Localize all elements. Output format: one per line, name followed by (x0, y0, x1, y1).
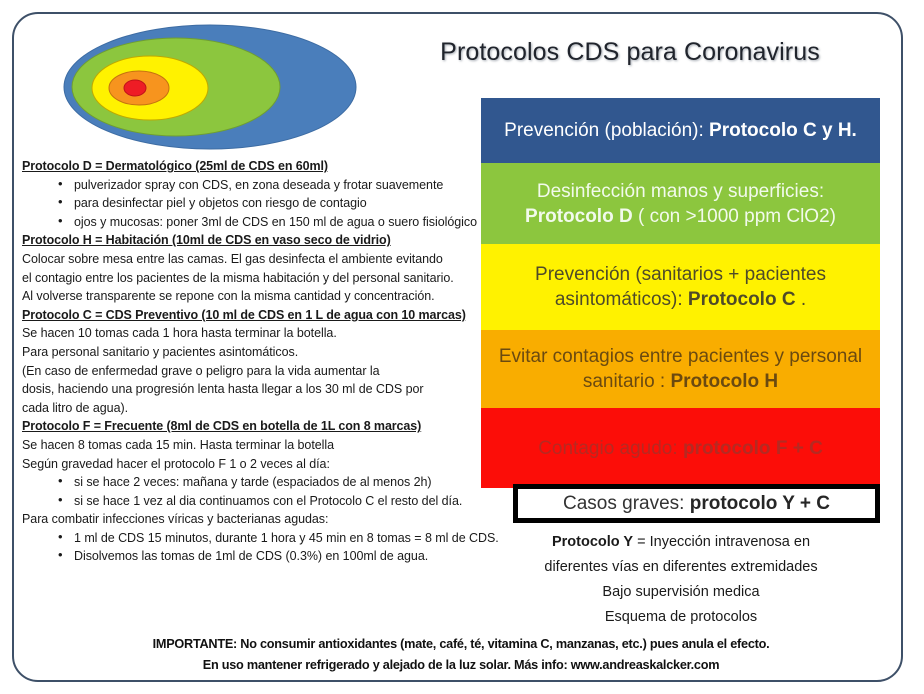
protocolo-y-line4: Esquema de protocolos (481, 605, 881, 630)
list-item: ojos y mucosas: poner 3ml de CDS en 150 … (74, 213, 480, 232)
protocolo-c-line: cada litro de agua). (22, 399, 480, 418)
band-text-bold: Protocolo D (525, 206, 633, 227)
band-text: Desinfección manos y superficies: Protoc… (493, 179, 868, 229)
list-item: 1 ml de CDS 15 minutos, durante 1 hora y… (74, 529, 480, 548)
protocolo-f-line: Según gravedad hacer el protocolo F 1 o … (22, 455, 480, 474)
list-item: para desinfectar piel y objetos con ries… (74, 194, 480, 213)
severity-bands-column: Prevención (población): Protocolo C y H.… (481, 98, 880, 488)
list-item: si se hace 2 veces: mañana y tarde (espa… (74, 473, 480, 492)
poster-root: Protocolos CDS para Coronavirus Protocol… (0, 0, 924, 694)
ellipse-red-core (124, 80, 146, 96)
band-evitar-contagios: Evitar contagios entre pacientes y perso… (481, 330, 880, 408)
protocolo-c-line: (En caso de enfermedad grave o peligro p… (22, 362, 480, 381)
casos-graves-callout: Casos graves: protocolo Y + C (513, 484, 880, 523)
list-item: si se hace 1 vez al dia continuamos con … (74, 492, 480, 511)
band-text: Prevención (sanitarios + pacientes asint… (493, 262, 868, 312)
band-text-tail: . (796, 289, 807, 310)
band-text-bold: Protocolo C y H. (709, 120, 857, 141)
protocolo-f-heading: Protocolo F = Frecuente (8ml de CDS en b… (22, 417, 480, 436)
protocolo-h-heading: Protocolo H = Habitación (10ml de CDS en… (22, 231, 480, 250)
band-text-bold: Protocolo H (670, 371, 778, 392)
protocolo-y-line3: Bajo supervisión medica (481, 580, 881, 605)
protocolo-y-line1: Protocolo Y = Inyección intravenosa en (481, 530, 881, 555)
band-desinfeccion: Desinfección manos y superficies: Protoc… (481, 163, 880, 244)
footer-line-2: En uso mantener refrigerado y alejado de… (30, 655, 892, 676)
protocolo-h-line: el contagio entre los pacientes de la mi… (22, 269, 480, 288)
protocolo-h-line: Al volverse transparente se repone con l… (22, 287, 480, 306)
band-text-bold: protocolo F + C (683, 438, 823, 459)
protocolo-c-line: Se hacen 10 tomas cada 1 hora hasta term… (22, 324, 480, 343)
band-contagio-agudo: Contagio agudo: protocolo F + C (481, 408, 880, 488)
protocolo-y-label: Protocolo Y (552, 534, 633, 550)
protocolo-f-bullets-2: 1 ml de CDS 15 minutos, durante 1 hora y… (22, 529, 480, 566)
band-text-plain: Prevención (población): (504, 120, 709, 141)
protocolo-y-line1-plain: = Inyección intravenosa en (633, 534, 810, 550)
casos-graves-bold: protocolo Y + C (690, 493, 830, 514)
band-text: Prevención (población): Protocolo C y H. (504, 118, 857, 143)
casos-graves-plain: Casos graves: (563, 493, 690, 514)
protocolo-c-heading: Protocolo C = CDS Preventivo (10 ml de C… (22, 306, 480, 325)
protocolo-d-heading: Protocolo D = Dermatológico (25ml de CDS… (22, 157, 480, 176)
protocolo-y-note: Protocolo Y = Inyección intravenosa en d… (481, 530, 881, 630)
band-text-tail: ( con >1000 ppm ClO2) (633, 206, 836, 227)
list-item: Disolvemos las tomas de 1ml de CDS (0.3%… (74, 547, 480, 566)
footer-warning: IMPORTANTE: No consumir antioxidantes (m… (30, 634, 892, 676)
band-text-plain: Contagio agudo: (538, 438, 683, 459)
band-prevencion-poblacion: Prevención (población): Protocolo C y H. (481, 98, 880, 163)
band-text: Contagio agudo: protocolo F + C (538, 436, 823, 461)
protocolo-h-line: Colocar sobre mesa entre las camas. El g… (22, 250, 480, 269)
band-prevencion-sanitarios: Prevención (sanitarios + pacientes asint… (481, 244, 880, 330)
band-text-bold: Protocolo C (688, 289, 796, 310)
protocolo-y-line2: diferentes vías en diferentes extremidad… (481, 555, 881, 580)
protocolo-c-line: dosis, haciendo una progresión lenta has… (22, 380, 480, 399)
footer-line-1: IMPORTANTE: No consumir antioxidantes (m… (30, 634, 892, 655)
casos-graves-text: Casos graves: protocolo Y + C (563, 493, 830, 515)
protocolo-f-line: Se hacen 8 tomas cada 15 min. Hasta term… (22, 436, 480, 455)
protocolo-c-line: Para personal sanitario y pacientes asin… (22, 343, 480, 362)
protocol-details-column: Protocolo D = Dermatológico (25ml de CDS… (22, 157, 480, 566)
band-text-plain: Desinfección manos y superficies: (537, 181, 824, 202)
protocolo-d-bullets: pulverizador spray con CDS, en zona dese… (22, 176, 480, 232)
nested-ellipses-severity-diagram (62, 22, 362, 152)
protocolo-f-line: Para combatir infecciones víricas y bact… (22, 510, 480, 529)
protocolo-f-bullets: si se hace 2 veces: mañana y tarde (espa… (22, 473, 480, 510)
list-item: pulverizador spray con CDS, en zona dese… (74, 176, 480, 195)
page-title: Protocolos CDS para Coronavirus (370, 38, 890, 67)
band-text: Evitar contagios entre pacientes y perso… (493, 344, 868, 394)
